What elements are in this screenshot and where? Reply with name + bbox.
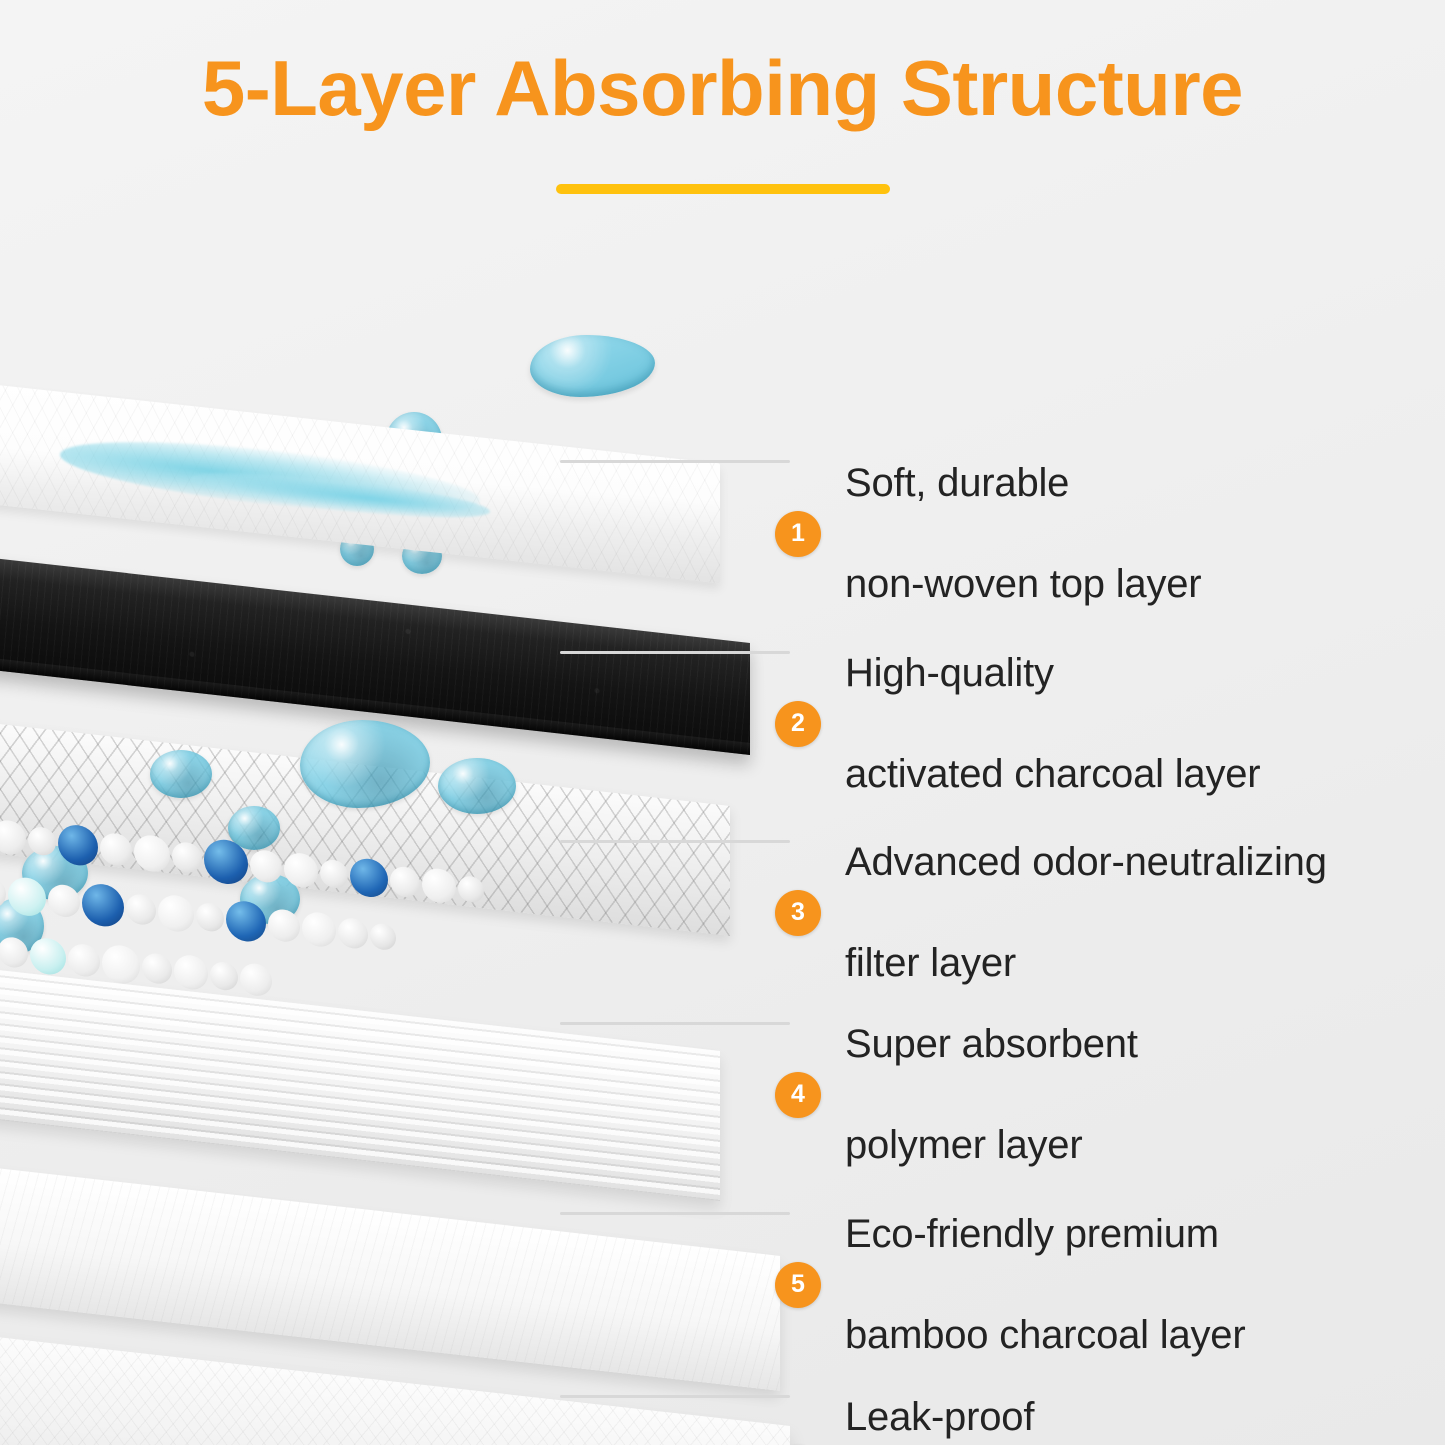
- leader-line-4: [560, 1022, 790, 1025]
- callout-text-6: Leak-proof polyethylene backing: [845, 1341, 1215, 1445]
- callout-line-1a: Soft, durable: [845, 458, 1201, 509]
- page-title: 5-Layer Absorbing Structure: [0, 48, 1445, 130]
- callout-line-3a: Advanced odor-neutralizing: [845, 837, 1327, 888]
- product-layer-illustration: [0, 250, 900, 1445]
- callout-badge-3: 3: [775, 890, 821, 936]
- callout-line-5a: Eco-friendly premium: [845, 1209, 1245, 1260]
- water-blob-icon: [530, 335, 655, 397]
- page-title-container: 5-Layer Absorbing Structure: [0, 48, 1445, 130]
- callout-badge-2: 2: [775, 701, 821, 747]
- gel-blob-icon: [150, 750, 212, 798]
- callout-badge-1: 1: [775, 511, 821, 557]
- leader-line-5: [560, 1212, 790, 1215]
- infographic-page: 5-Layer Absorbing Structure: [0, 0, 1445, 1445]
- leader-line-3: [560, 840, 790, 843]
- leader-line-1: [560, 460, 790, 463]
- callout-6: 6 Leak-proof polyethylene backing: [775, 1341, 1215, 1445]
- title-underline-rule: [556, 184, 890, 194]
- callout-badge-4: 4: [775, 1072, 821, 1118]
- callout-line-2a: High-quality: [845, 648, 1260, 699]
- leader-line-6: [560, 1395, 790, 1398]
- leader-line-2: [560, 651, 790, 654]
- gel-blob-icon: [438, 758, 516, 814]
- callout-line-4a: Super absorbent: [845, 1019, 1138, 1070]
- callout-badge-5: 5: [775, 1262, 821, 1308]
- callout-line-6a: Leak-proof: [845, 1392, 1215, 1443]
